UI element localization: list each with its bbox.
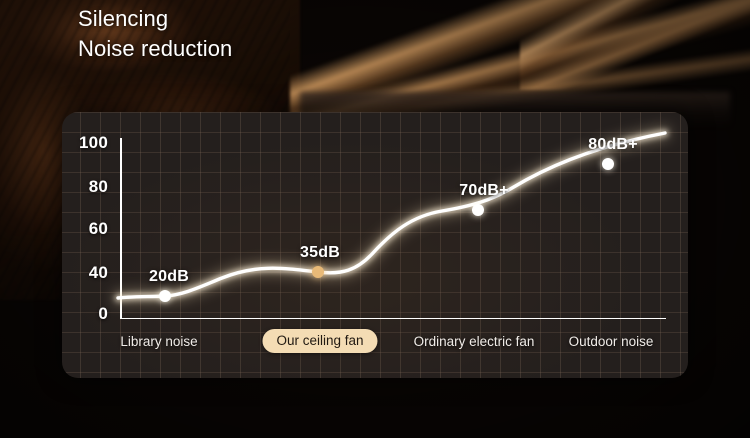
data-point-label: 70dB+ <box>459 182 508 200</box>
page-title: Silencing Noise reduction <box>78 4 232 64</box>
x-axis-label-our-ceiling-fan[interactable]: Our ceiling fan <box>262 329 377 353</box>
data-point-dot[interactable] <box>159 290 171 302</box>
data-point-dot[interactable] <box>602 158 614 170</box>
data-point-dot-highlighted[interactable] <box>312 266 324 278</box>
page-title-line2: Noise reduction <box>78 36 232 61</box>
x-axis-label-ordinary-electric-fan: Ordinary electric fan <box>414 334 535 349</box>
data-point-label: 80dB+ <box>588 136 637 154</box>
data-point-label: 35dB <box>300 244 340 262</box>
page-title-line1: Silencing <box>78 6 168 31</box>
data-point-dot[interactable] <box>472 204 484 216</box>
x-axis-label-outdoor-noise: Outdoor noise <box>569 334 654 349</box>
x-axis-label-library-noise: Library noise <box>120 334 197 349</box>
data-point-label: 20dB <box>149 268 189 286</box>
screenshot-stage: Silencing Noise reduction 100 80 60 40 0 <box>0 0 750 438</box>
